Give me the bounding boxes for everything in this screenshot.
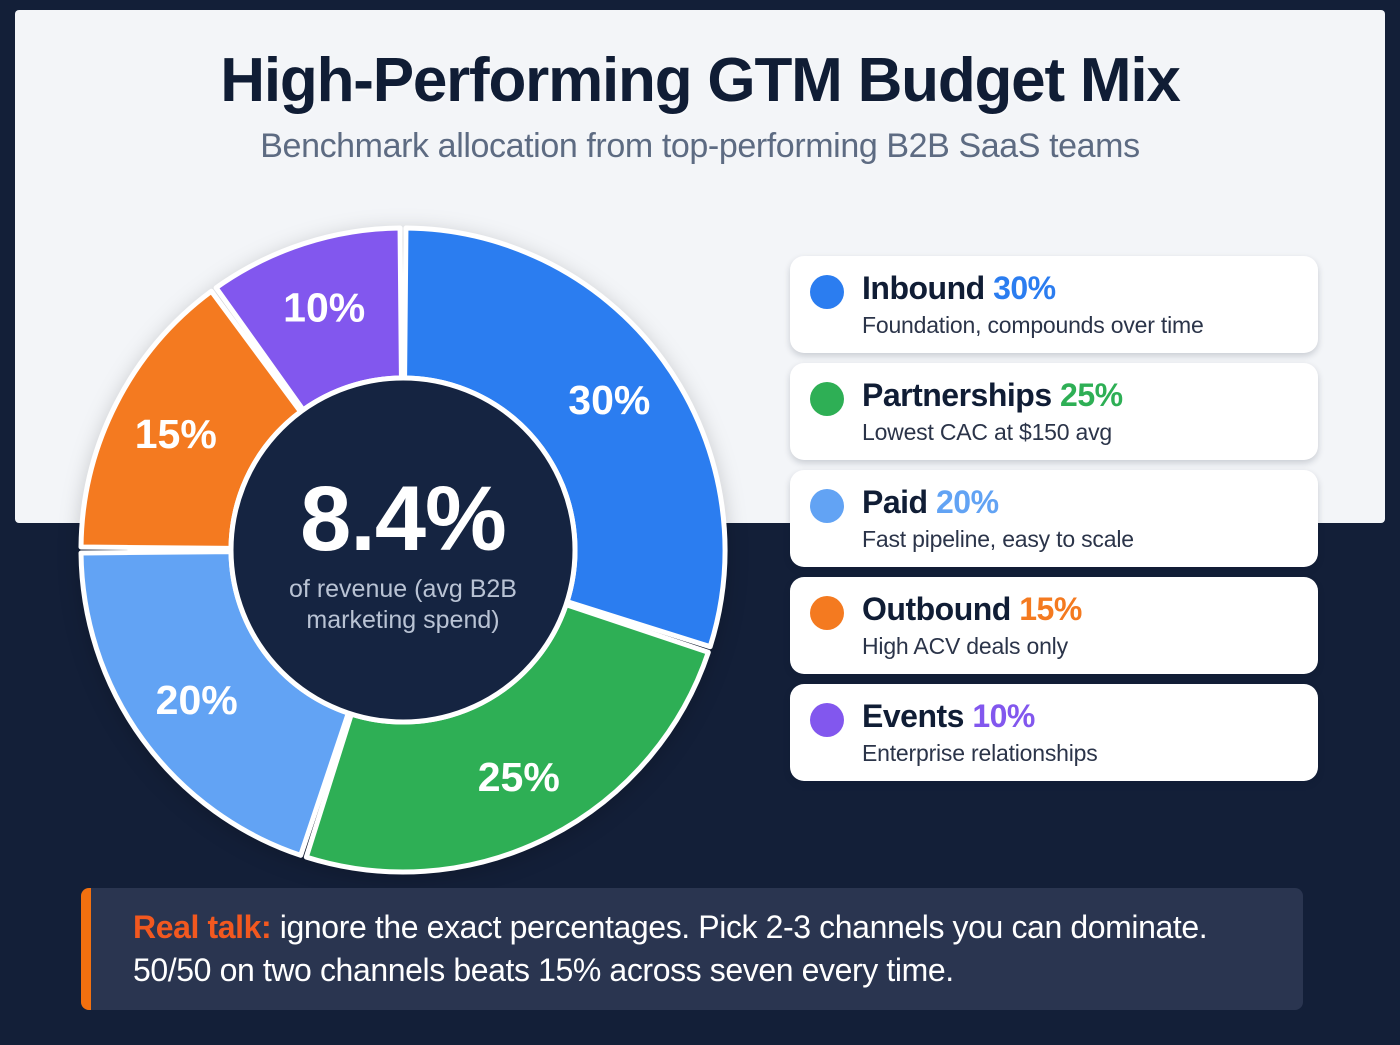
center-value: 8.4% [300,468,506,570]
legend-color-dot-icon [810,382,844,416]
slice-label-events: 10% [283,284,365,330]
legend-text-block: Paid 20%Fast pipeline, easy to scale [862,484,1298,553]
legend-percent: 30% [993,270,1056,306]
legend-title-row: Events 10% [862,698,1298,735]
legend-percent: 10% [972,698,1035,734]
slice-label-outbound: 15% [135,411,217,457]
legend-channel-name: Inbound [862,270,985,306]
donut-chart: 30%25%20%15%10% 8.4% of revenue (avg B2B… [73,220,733,880]
legend-text-block: Outbound 15%High ACV deals only [862,591,1298,660]
legend-channel-name: Partnerships [862,377,1052,413]
slice-label-inbound: 30% [568,377,650,423]
legend-text-block: Partnerships 25%Lowest CAC at $150 avg [862,377,1298,446]
legend-color-dot-icon [810,275,844,309]
legend-color-dot-icon [810,596,844,630]
page-title: High-Performing GTM Budget Mix [15,48,1385,113]
legend-color-dot-icon [810,489,844,523]
legend-card-inbound[interactable]: Inbound 30%Foundation, compounds over ti… [790,256,1318,353]
legend-description: High ACV deals only [862,633,1298,660]
legend-description: Lowest CAC at $150 avg [862,419,1298,446]
callout-body: ignore the exact percentages. Pick 2-3 c… [133,909,1207,988]
legend-description: Foundation, compounds over time [862,312,1298,339]
callout-lead: Real talk: [133,909,271,945]
legend-title-row: Paid 20% [862,484,1298,521]
slice-label-paid: 20% [156,677,238,723]
legend-channel-name: Outbound [862,591,1011,627]
legend-color-dot-icon [810,703,844,737]
legend-text-block: Events 10%Enterprise relationships [862,698,1298,767]
legend-card-events[interactable]: Events 10%Enterprise relationships [790,684,1318,781]
center-caption-line2: marketing spend) [306,606,499,634]
legend-title-row: Inbound 30% [862,270,1298,307]
legend-title-row: Partnerships 25% [862,377,1298,414]
legend-text-block: Inbound 30%Foundation, compounds over ti… [862,270,1298,339]
legend-description: Enterprise relationships [862,740,1298,767]
legend-percent: 25% [1060,377,1123,413]
legend-title-row: Outbound 15% [862,591,1298,628]
legend-card-outbound[interactable]: Outbound 15%High ACV deals only [790,577,1318,674]
center-caption-line1: of revenue (avg B2B [289,575,517,603]
legend-card-paid[interactable]: Paid 20%Fast pipeline, easy to scale [790,470,1318,567]
callout-box: Real talk: ignore the exact percentages.… [81,888,1303,1010]
legend-list: Inbound 30%Foundation, compounds over ti… [790,256,1318,781]
legend-percent: 20% [936,484,999,520]
callout-text: Real talk: ignore the exact percentages.… [81,906,1303,992]
header: High-Performing GTM Budget Mix Benchmark… [15,10,1385,166]
legend-channel-name: Events [862,698,964,734]
callout-accent-bar [81,888,91,1010]
legend-description: Fast pipeline, easy to scale [862,526,1298,553]
page-subtitle: Benchmark allocation from top-performing… [15,127,1385,166]
legend-channel-name: Paid [862,484,928,520]
slice-label-partnerships: 25% [478,754,560,800]
legend-card-partnerships[interactable]: Partnerships 25%Lowest CAC at $150 avg [790,363,1318,460]
legend-percent: 15% [1019,591,1082,627]
